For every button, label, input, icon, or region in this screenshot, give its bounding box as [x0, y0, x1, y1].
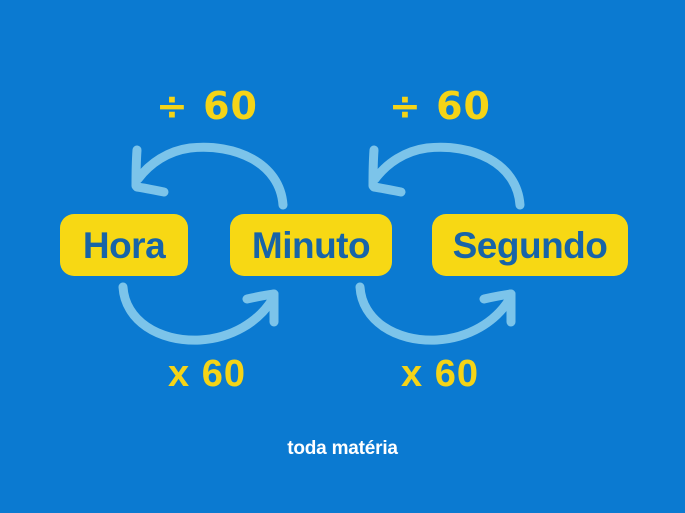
- unit-pill-hora: Hora: [60, 214, 188, 276]
- unit-pill-label: Minuto: [252, 227, 370, 264]
- infographic-canvas: ÷ 60 ÷ 60 Hora Minuto Segundo x 60 x 60 …: [0, 0, 685, 513]
- operation-label-multiply-right: x 60: [401, 353, 479, 396]
- operation-label-divide-left: ÷ 60: [156, 84, 258, 128]
- arrow-segundo-to-minuto: [373, 147, 520, 205]
- operation-label-multiply-left: x 60: [168, 353, 246, 396]
- unit-pill-label: Segundo: [453, 227, 608, 264]
- unit-pill-minuto: Minuto: [230, 214, 392, 276]
- brand-wordmark: toda matéria: [0, 438, 685, 460]
- unit-pill-label: Hora: [83, 227, 165, 264]
- arrow-minuto-to-hora: [136, 147, 283, 205]
- arrow-minuto-to-segundo: [360, 287, 511, 340]
- operation-label-divide-right: ÷ 60: [389, 84, 491, 128]
- unit-pill-segundo: Segundo: [432, 214, 628, 276]
- arrow-hora-to-minuto: [123, 287, 274, 340]
